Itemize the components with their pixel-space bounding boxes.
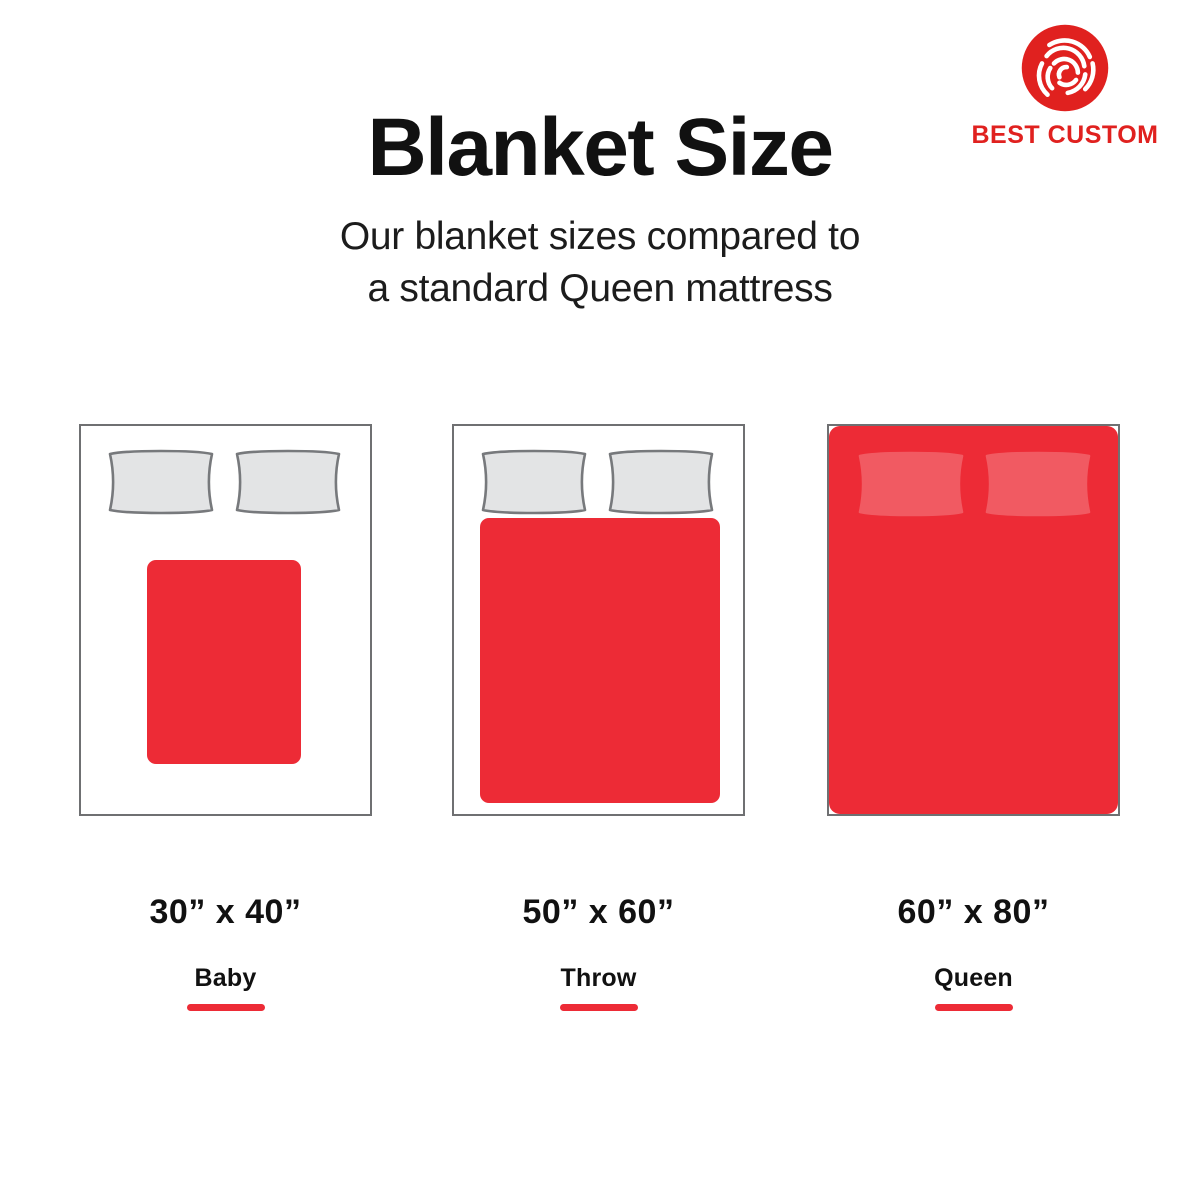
- caption-queen: 60” x 80” Queen: [827, 895, 1120, 1011]
- pillow-left-icon: [479, 448, 589, 516]
- caption-throw: 50” x 60” Throw: [452, 895, 745, 1011]
- blanket-name: Queen: [827, 966, 1120, 991]
- blanket-throw: [480, 518, 720, 803]
- bed-diagram-throw: [452, 424, 745, 816]
- blanket-dimensions: 60” x 80”: [827, 895, 1120, 929]
- blanket-dimensions: 50” x 60”: [452, 895, 745, 929]
- bed-comparison-row: [0, 424, 1200, 816]
- bed-diagram-baby: [79, 424, 372, 816]
- pillow-left-icon: [856, 450, 966, 518]
- page-subtitle: Our blanket sizes compared to a standard…: [0, 211, 1200, 316]
- blanket-baby: [147, 560, 301, 764]
- heading-block: Blanket Size Our blanket sizes compared …: [0, 104, 1200, 315]
- bed-diagram-queen: [827, 424, 1120, 816]
- blanket-name: Throw: [452, 966, 745, 991]
- pillow-right-icon: [606, 448, 716, 516]
- accent-underline: [187, 1004, 265, 1011]
- infographic-canvas: BEST CUSTOM Blanket Size Our blanket siz…: [0, 0, 1200, 1200]
- accent-underline: [560, 1004, 638, 1011]
- pillow-right-icon: [983, 450, 1093, 518]
- bed-captions-row: 30” x 40” Baby 50” x 60” Throw 60” x 80”…: [0, 895, 1200, 1055]
- caption-baby: 30” x 40” Baby: [79, 895, 372, 1011]
- pillow-left-icon: [106, 448, 216, 516]
- pillow-right-icon: [233, 448, 343, 516]
- page-title: Blanket Size: [0, 104, 1200, 193]
- blanket-dimensions: 30” x 40”: [79, 895, 372, 929]
- blanket-name: Baby: [79, 966, 372, 991]
- blanket-queen: [829, 426, 1118, 814]
- subtitle-line-2: a standard Queen mattress: [0, 263, 1200, 315]
- subtitle-line-1: Our blanket sizes compared to: [0, 211, 1200, 263]
- accent-underline: [935, 1004, 1013, 1011]
- fingerprint-icon: [1019, 22, 1111, 114]
